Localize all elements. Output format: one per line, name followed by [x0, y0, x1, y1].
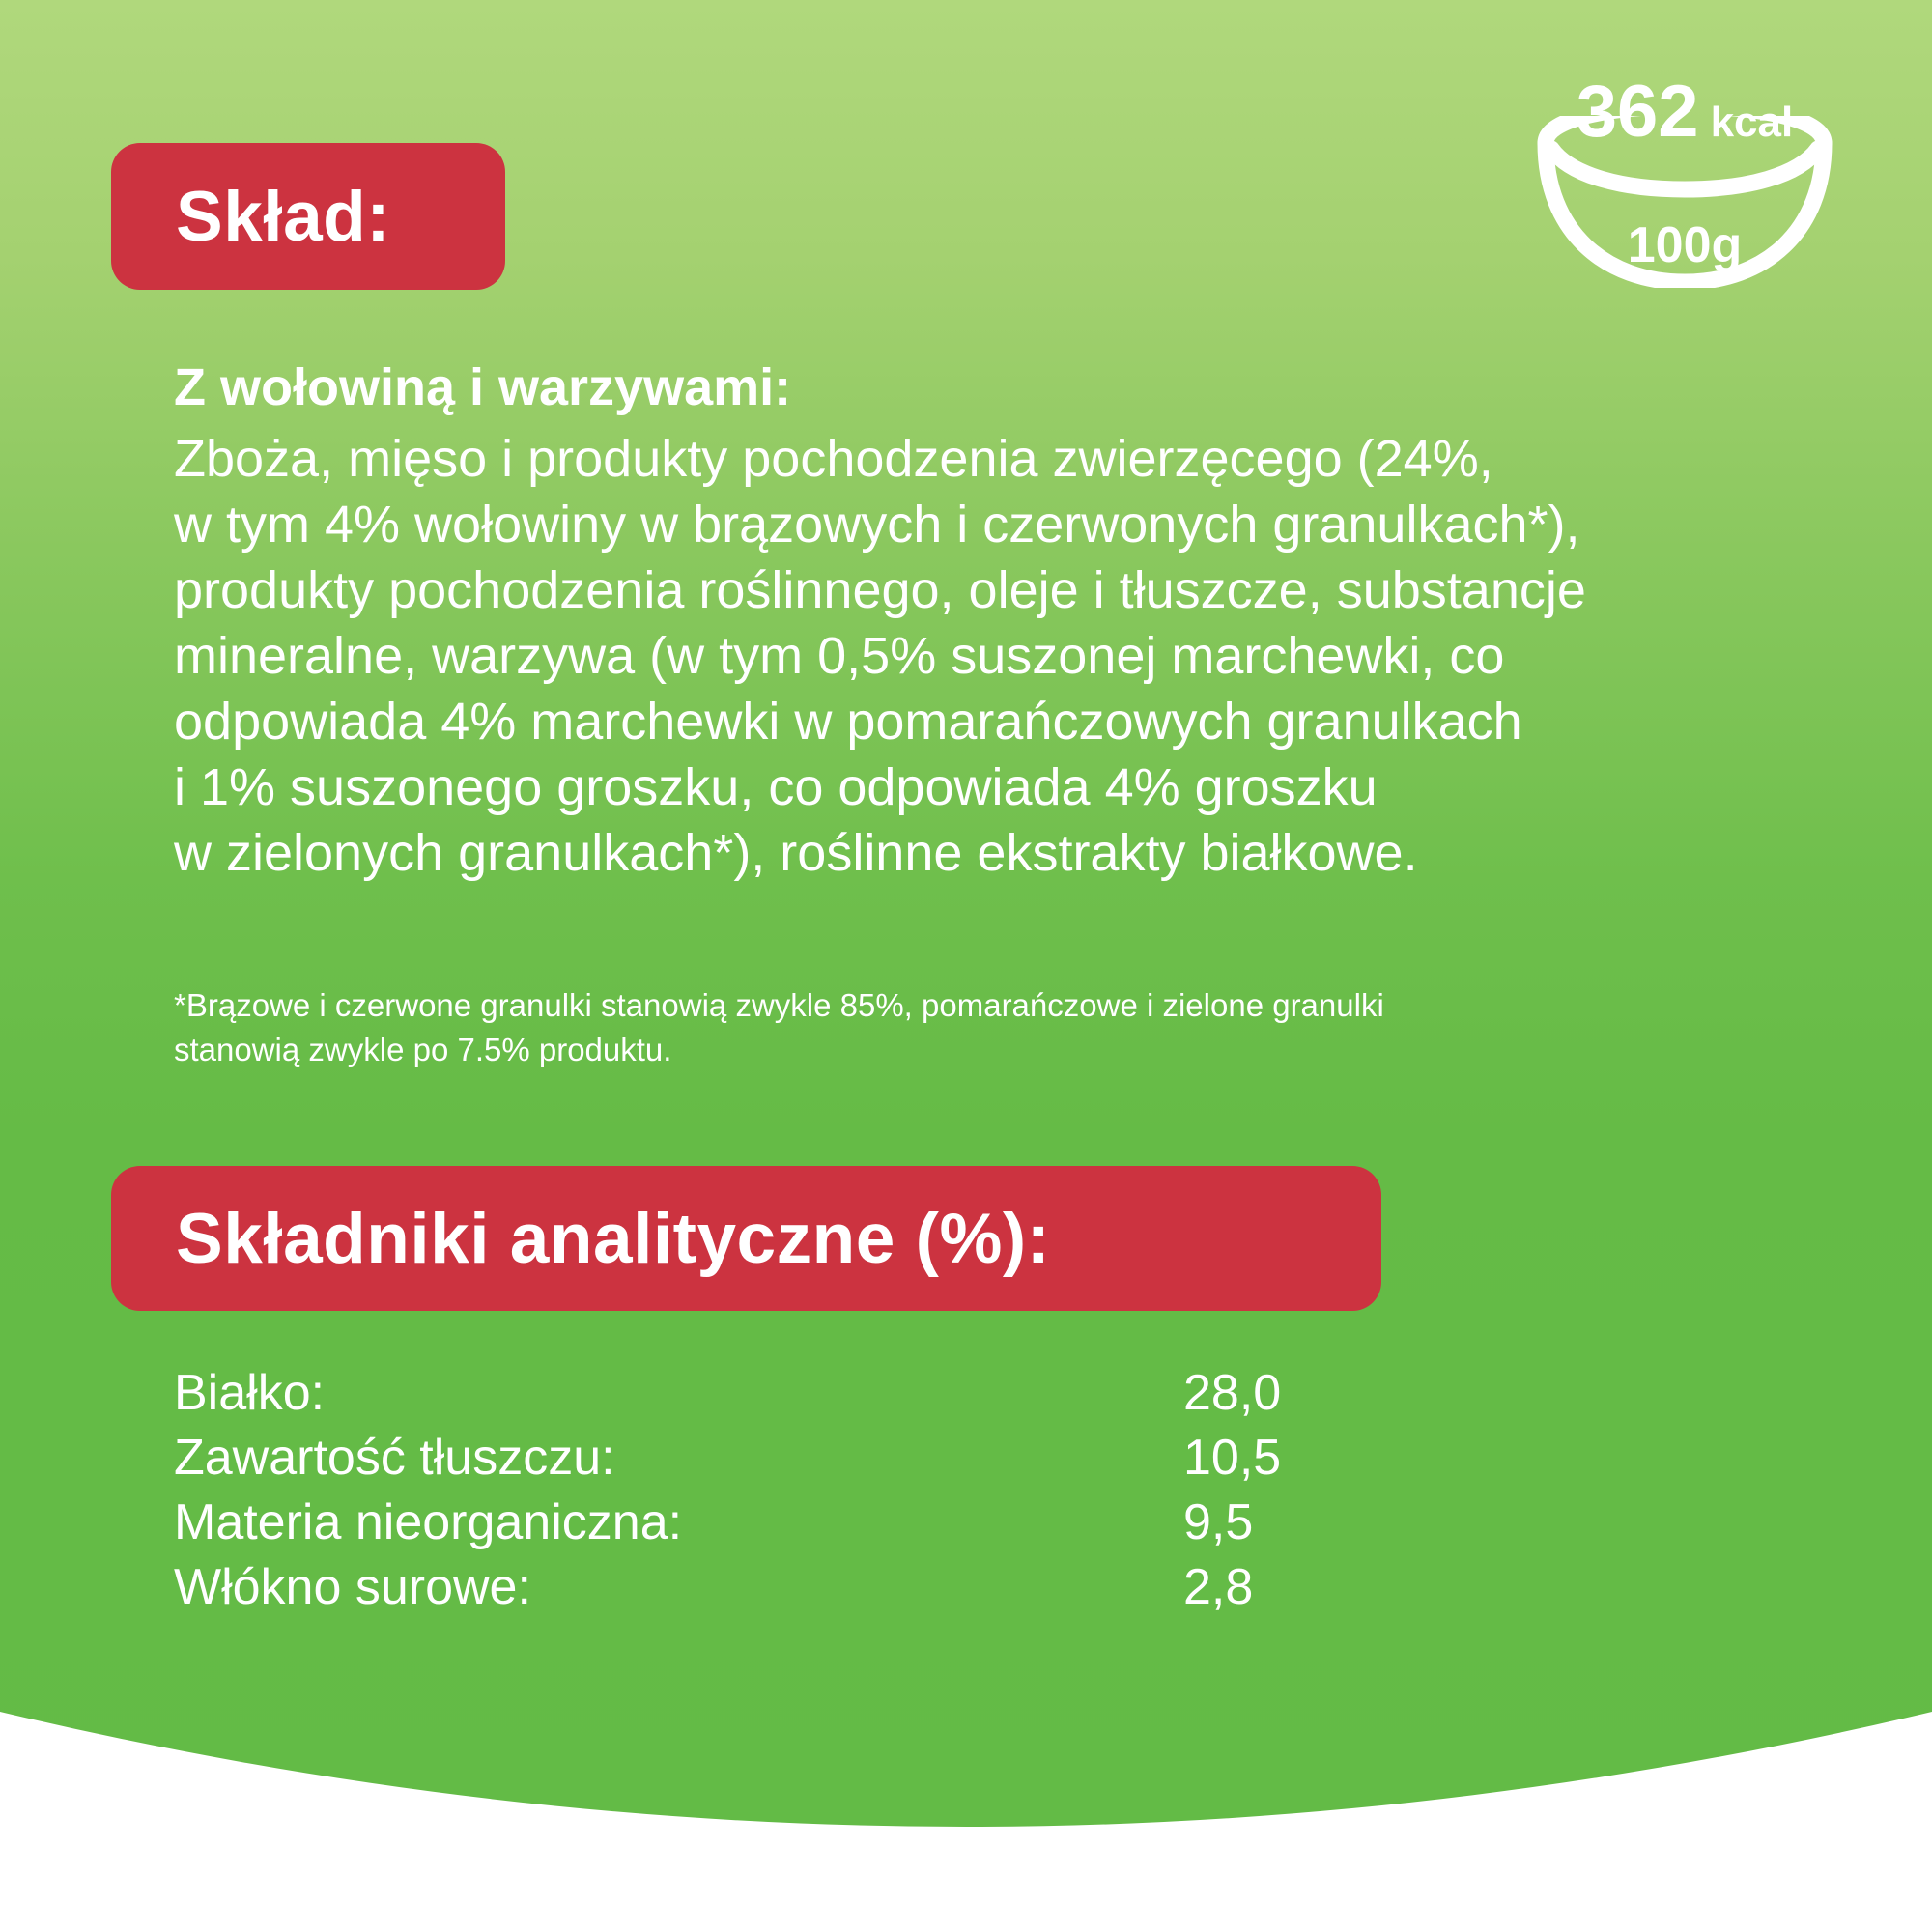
analytical-constituents-badge: Składniki analityczne (%):	[111, 1166, 1381, 1311]
ingredients-line: w zielonych granulkach*), roślinne ekstr…	[174, 820, 1816, 886]
ingredients-line: mineralne, warzywa (w tym 0,5% suszonej …	[174, 623, 1816, 689]
ingredients-line: w tym 4% wołowiny w brązowych i czerwony…	[174, 492, 1816, 557]
kcal-weight-label: 100g	[1530, 220, 1839, 270]
nutrition-label-card: Skład: 362 kcal 100g Z wołowiną i warzyw…	[0, 0, 1932, 1932]
constituent-value: 9,5	[1183, 1493, 1253, 1551]
constituent-name: Włókno surowe:	[174, 1558, 1183, 1616]
granule-footnote: *Brązowe i czerwone granulki stanowią zw…	[174, 983, 1739, 1071]
ingredients-line: i 1% suszonego groszku, co odpowiada 4% …	[174, 754, 1816, 820]
footnote-line: stanowią zwykle po 7.5% produktu.	[174, 1028, 1739, 1072]
constituent-value: 2,8	[1183, 1558, 1253, 1616]
kcal-badge: 362 kcal 100g	[1530, 75, 1839, 288]
ingredients-line: odpowiada 4% marchewki w pomarańczowych …	[174, 689, 1816, 754]
label-content: Skład: 362 kcal 100g Z wołowiną i warzyw…	[0, 0, 1932, 1932]
ingredients-line: produkty pochodzenia roślinnego, oleje i…	[174, 557, 1816, 623]
constituent-value: 10,5	[1183, 1429, 1281, 1487]
constituent-name: Materia nieorganiczna:	[174, 1493, 1183, 1551]
analytical-constituents-table: Białko: 28,0 Zawartość tłuszczu: 10,5 Ma…	[174, 1364, 1526, 1623]
table-row: Białko: 28,0	[174, 1364, 1526, 1429]
ingredients-body: Zboża, mięso i produkty pochodzenia zwie…	[174, 426, 1816, 886]
analytical-constituents-badge-label: Składniki analityczne (%):	[176, 1199, 1050, 1279]
ingredients-line: Zboża, mięso i produkty pochodzenia zwie…	[174, 426, 1816, 492]
constituent-value: 28,0	[1183, 1364, 1281, 1422]
ingredients-block: Z wołowiną i warzywami: Zboża, mięso i p…	[174, 355, 1816, 886]
table-row: Zawartość tłuszczu: 10,5	[174, 1429, 1526, 1493]
sklad-badge: Skład:	[111, 143, 505, 290]
constituent-name: Białko:	[174, 1364, 1183, 1422]
footnote-line: *Brązowe i czerwone granulki stanowią zw…	[174, 983, 1739, 1028]
table-row: Włókno surowe: 2,8	[174, 1558, 1526, 1623]
ingredients-heading: Z wołowiną i warzywami:	[174, 355, 1816, 420]
constituent-name: Zawartość tłuszczu:	[174, 1429, 1183, 1487]
sklad-badge-label: Skład:	[176, 177, 390, 257]
table-row: Materia nieorganiczna: 9,5	[174, 1493, 1526, 1558]
